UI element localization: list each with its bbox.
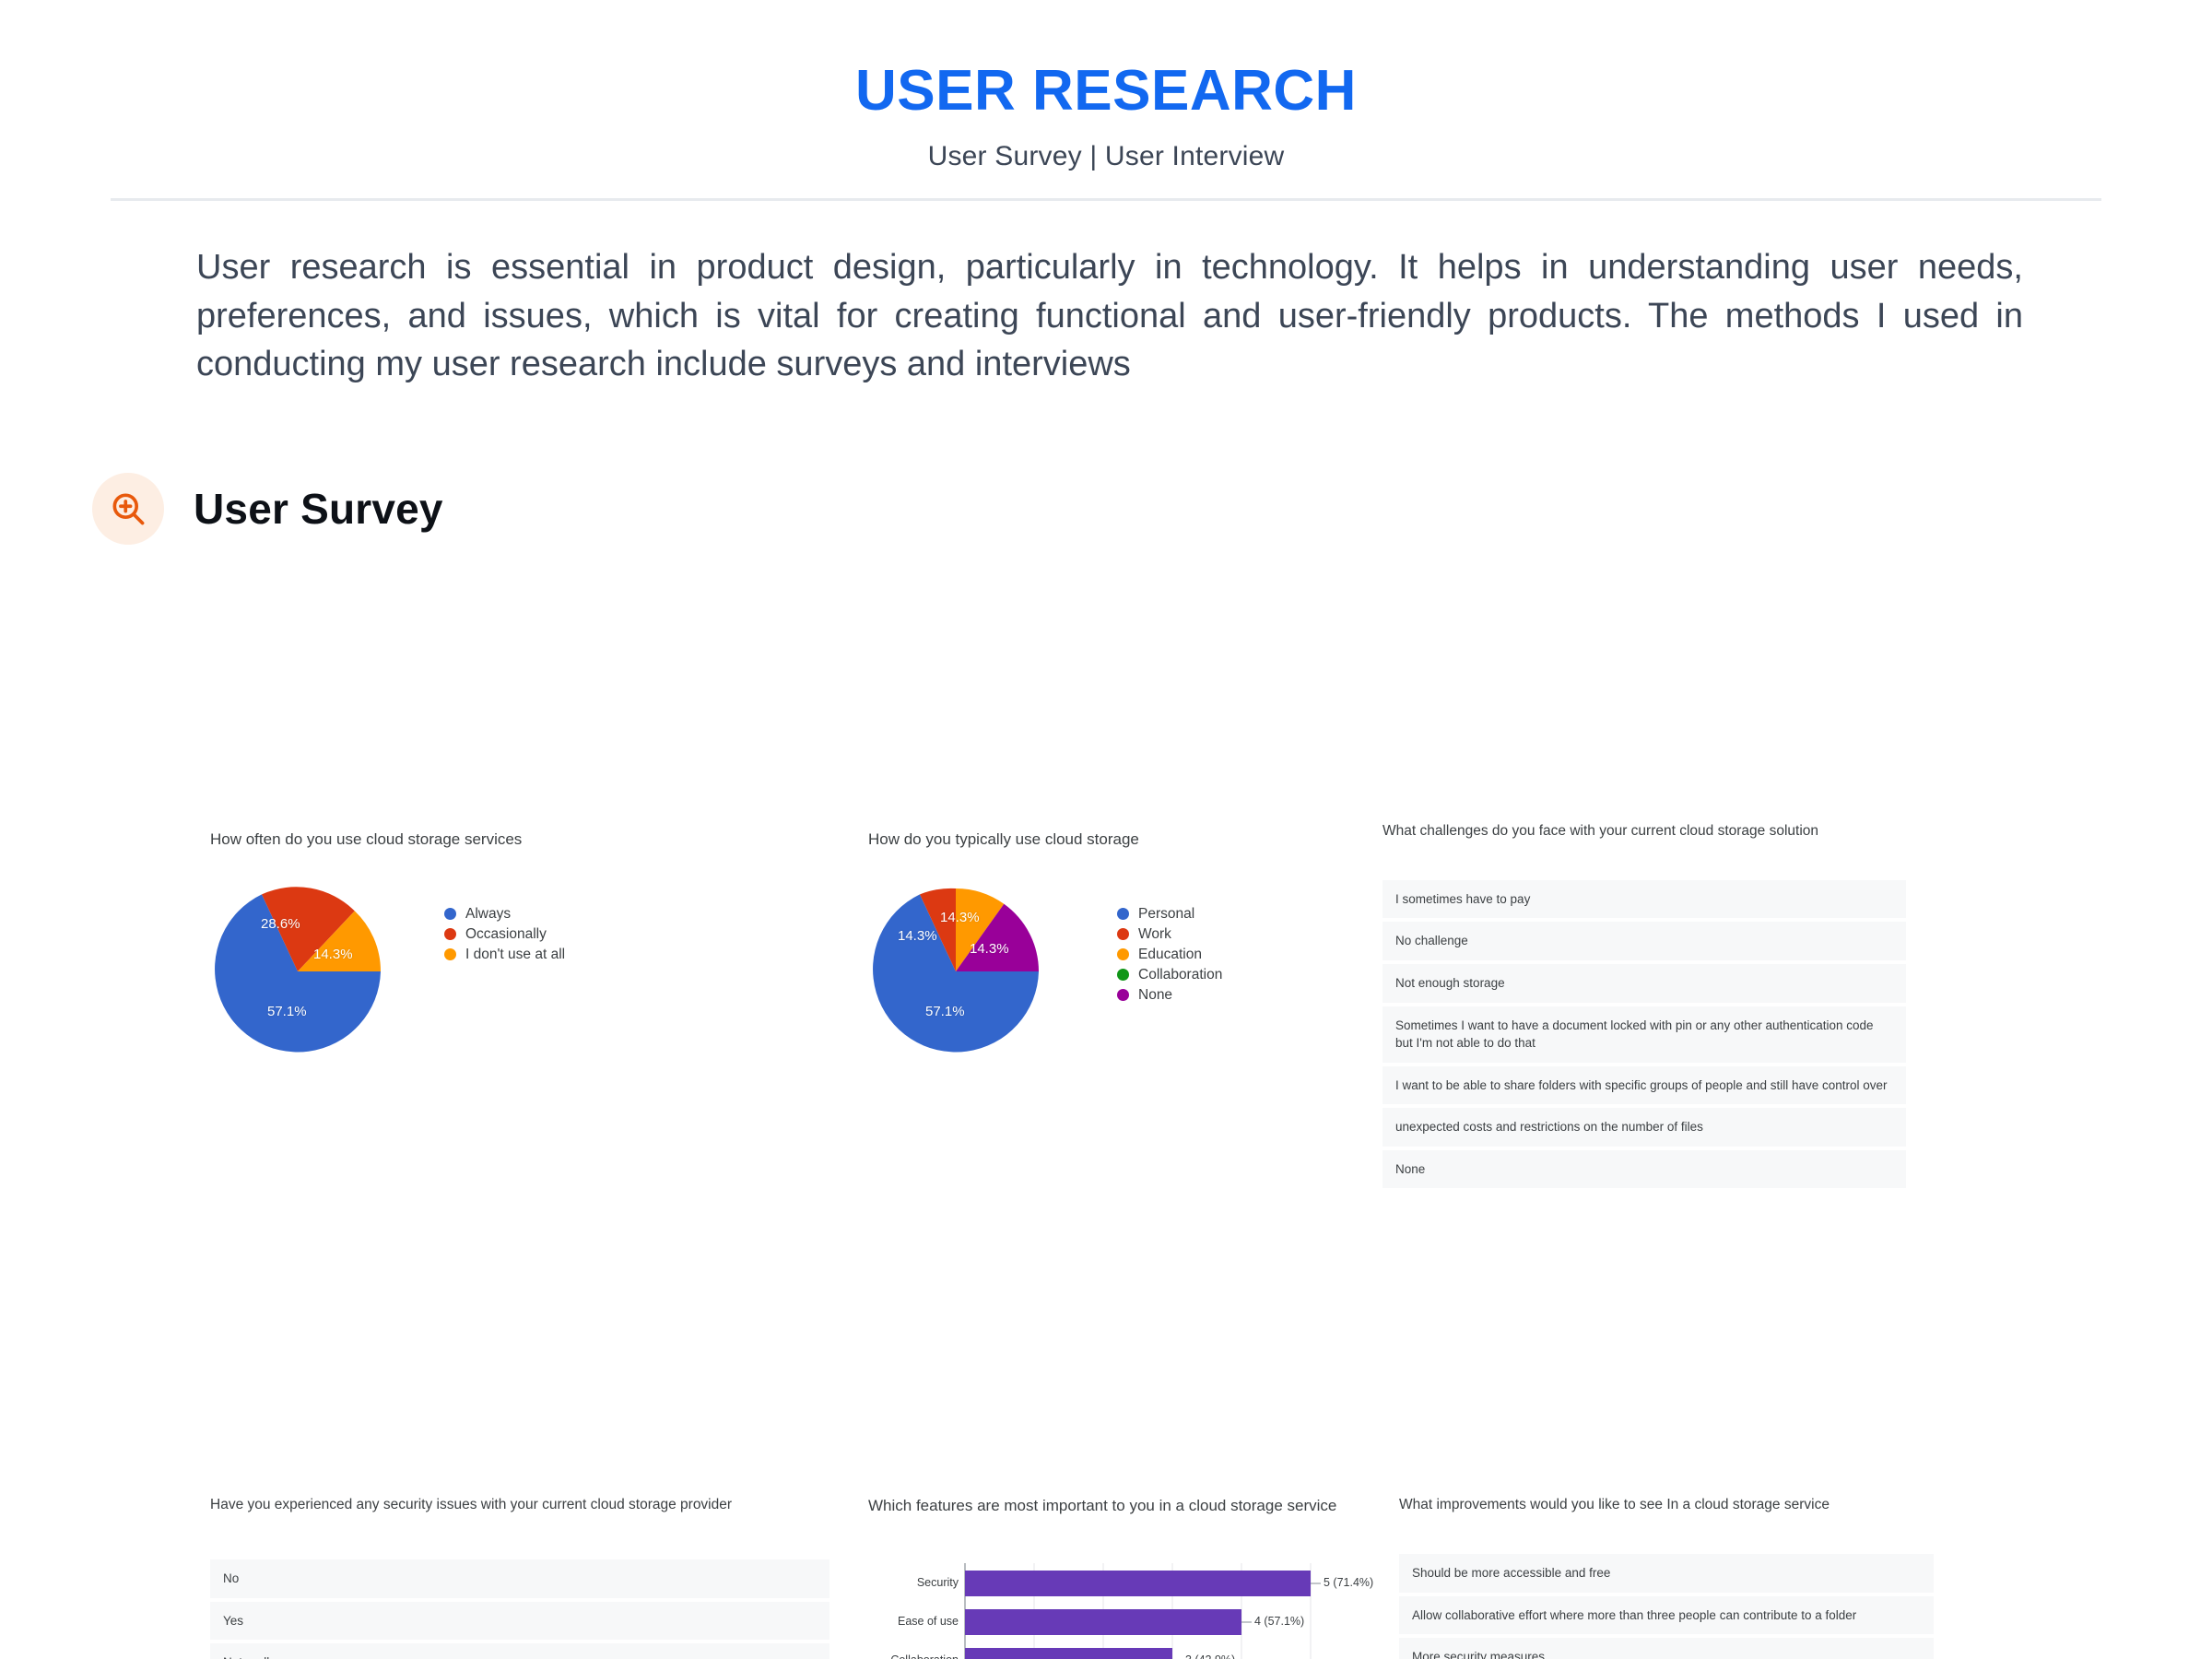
legend-q1: Always Occasionally I don't use at all (444, 904, 565, 965)
chart-card-q5: Which features are most important to you… (682, 1496, 1382, 1659)
legend-label: I don't use at all (465, 947, 565, 963)
zoom-in-icon (92, 473, 164, 545)
answers-list-q3: I sometimes have to pay No challenge Not… (1382, 880, 1906, 1189)
page-subtitle: User Survey | User Interview (0, 141, 2212, 172)
legend-swatch-icon (1117, 969, 1129, 981)
legend-label: Education (1138, 947, 1202, 963)
list-item[interactable]: Allow collaborative effort where more th… (1399, 1596, 1934, 1635)
legend-label: Always (465, 906, 511, 923)
chart-card-q3: What challenges do you face with your cu… (1382, 829, 2212, 1192)
legend-item[interactable]: Work (1117, 924, 1222, 945)
legend-item[interactable]: Always (444, 904, 565, 924)
answers-list-q6: Should be more accessible and free Allow… (1399, 1554, 1934, 1659)
list-item[interactable]: I sometimes have to pay (1382, 880, 1906, 919)
legend-item[interactable]: Education (1117, 945, 1222, 965)
legend-item[interactable]: Occasionally (444, 924, 565, 945)
pie-chart-q1[interactable]: 57.1% 28.6% 14.3% (210, 884, 385, 1059)
legend-swatch-icon (1117, 948, 1129, 960)
survey-row-1: How often do you use cloud storage servi… (0, 829, 2212, 1192)
section-header-user-survey: User Survey (92, 473, 2212, 545)
bar-value-label: 4 (57.1%) (1254, 1615, 1304, 1628)
intro-paragraph: User research is essential in product de… (189, 243, 2023, 388)
list-item[interactable]: Sometimes I want to have a document lock… (1382, 1006, 1906, 1063)
legend-label: Occasionally (465, 926, 547, 943)
page-title: USER RESEARCH (0, 61, 2212, 121)
section-title: User Survey (194, 484, 443, 534)
chart-card-q6: What improvements would you like to see … (1382, 1496, 2212, 1659)
list-item[interactable]: Not enough storage (1382, 964, 1906, 1003)
survey-results-grid: How often do you use cloud storage servi… (0, 829, 2212, 1659)
list-item[interactable]: No challenge (1382, 922, 1906, 960)
legend-label: None (1138, 987, 1172, 1004)
legend-swatch-icon (444, 908, 456, 920)
chart-title-q1: How often do you use cloud storage servi… (210, 829, 682, 851)
chart-title-q3: What challenges do you face with your cu… (1382, 822, 2212, 841)
legend-swatch-icon (1117, 928, 1129, 940)
list-item[interactable]: unexpected costs and restrictions on the… (1382, 1108, 1906, 1147)
bar-category-label: Collaboration (868, 1653, 959, 1659)
chart-card-q1: How often do you use cloud storage servi… (0, 829, 682, 1192)
legend-swatch-icon (444, 948, 456, 960)
legend-item[interactable]: Personal (1117, 904, 1222, 924)
bar-category-label: Security (868, 1576, 959, 1589)
chart-title-q2: How do you typically use cloud storage (868, 829, 1382, 851)
chart-title-q5: Which features are most important to you… (868, 1496, 1382, 1517)
bar-value-label: 3 (42.9%) (1185, 1653, 1235, 1659)
page-header: USER RESEARCH User Survey | User Intervi… (0, 0, 2212, 201)
legend-swatch-icon (1117, 908, 1129, 920)
bar-value-label: 5 (71.4%) (1324, 1576, 1373, 1589)
legend-label: Collaboration (1138, 967, 1222, 983)
chart-title-q6: What improvements would you like to see … (1399, 1496, 2212, 1515)
legend-item[interactable]: None (1117, 985, 1222, 1006)
legend-item[interactable]: I don't use at all (444, 945, 565, 965)
legend-q2: Personal Work Education Collaborati (1117, 904, 1222, 1006)
legend-item[interactable]: Collaboration (1117, 965, 1222, 985)
bar-category-label: Ease of use (868, 1615, 959, 1628)
list-item[interactable]: More security measures (1399, 1638, 1934, 1659)
bar-chart-q5[interactable]: 0 1 2 3 4 5 Security Ease of use Collabo… (868, 1556, 1382, 1659)
legend-swatch-icon (444, 928, 456, 940)
legend-swatch-icon (1117, 989, 1129, 1001)
survey-row-2: Have you experienced any security issues… (0, 1496, 2212, 1659)
chart-card-q4: Have you experienced any security issues… (0, 1496, 682, 1659)
list-item[interactable]: Should be more accessible and free (1399, 1554, 1934, 1593)
page-root: USER RESEARCH User Survey | User Intervi… (0, 0, 2212, 1659)
legend-label: Work (1138, 926, 1171, 943)
header-divider (111, 198, 2101, 201)
list-item[interactable]: None (1382, 1150, 1906, 1189)
chart-title-q4: Have you experienced any security issues… (210, 1496, 682, 1515)
chart-card-q2: How do you typically use cloud storage (682, 829, 1382, 1192)
legend-label: Personal (1138, 906, 1194, 923)
list-item[interactable]: I want to be able to share folders with … (1382, 1066, 1906, 1105)
pie-chart-q2[interactable]: 57.1% 14.3% 14.3% 14.3% (868, 884, 1043, 1059)
